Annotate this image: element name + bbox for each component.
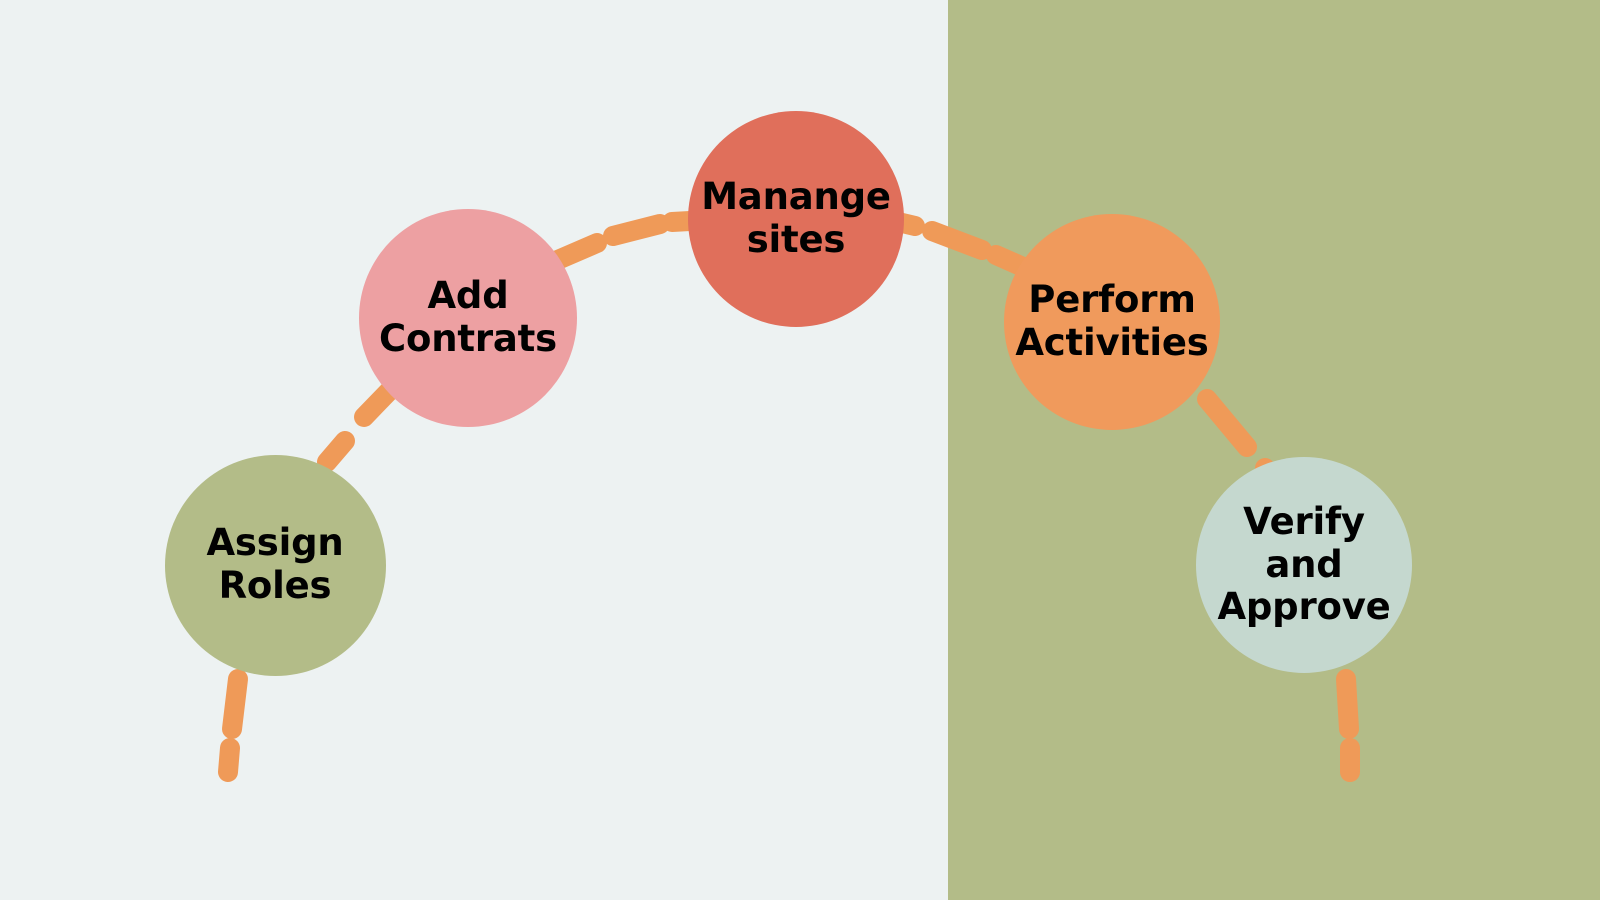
connector-dash bbox=[613, 224, 660, 236]
node-manange-sites[interactable]: Manange sites bbox=[688, 111, 904, 327]
node-label-verify-and-approve: Verify and Approve bbox=[1196, 501, 1412, 630]
node-perform-activities[interactable]: Perform Activities bbox=[1004, 214, 1220, 430]
node-label-manange-sites: Manange sites bbox=[695, 176, 897, 262]
connector-dash bbox=[228, 748, 230, 772]
diagram-canvas: Assign RolesAdd ContratsManange sitesPer… bbox=[0, 0, 1600, 900]
node-assign-roles[interactable]: Assign Roles bbox=[165, 455, 386, 676]
node-label-assign-roles: Assign Roles bbox=[201, 522, 350, 608]
connector-dash bbox=[232, 679, 238, 729]
connector-dash bbox=[327, 441, 345, 462]
node-verify-and-approve[interactable]: Verify and Approve bbox=[1196, 457, 1412, 673]
connector-dash bbox=[1346, 679, 1349, 729]
node-add-contrats[interactable]: Add Contrats bbox=[359, 209, 577, 427]
node-label-add-contrats: Add Contrats bbox=[373, 275, 563, 361]
connector-dash bbox=[932, 231, 982, 250]
connector-dash bbox=[1207, 399, 1247, 447]
node-label-perform-activities: Perform Activities bbox=[1009, 279, 1214, 365]
